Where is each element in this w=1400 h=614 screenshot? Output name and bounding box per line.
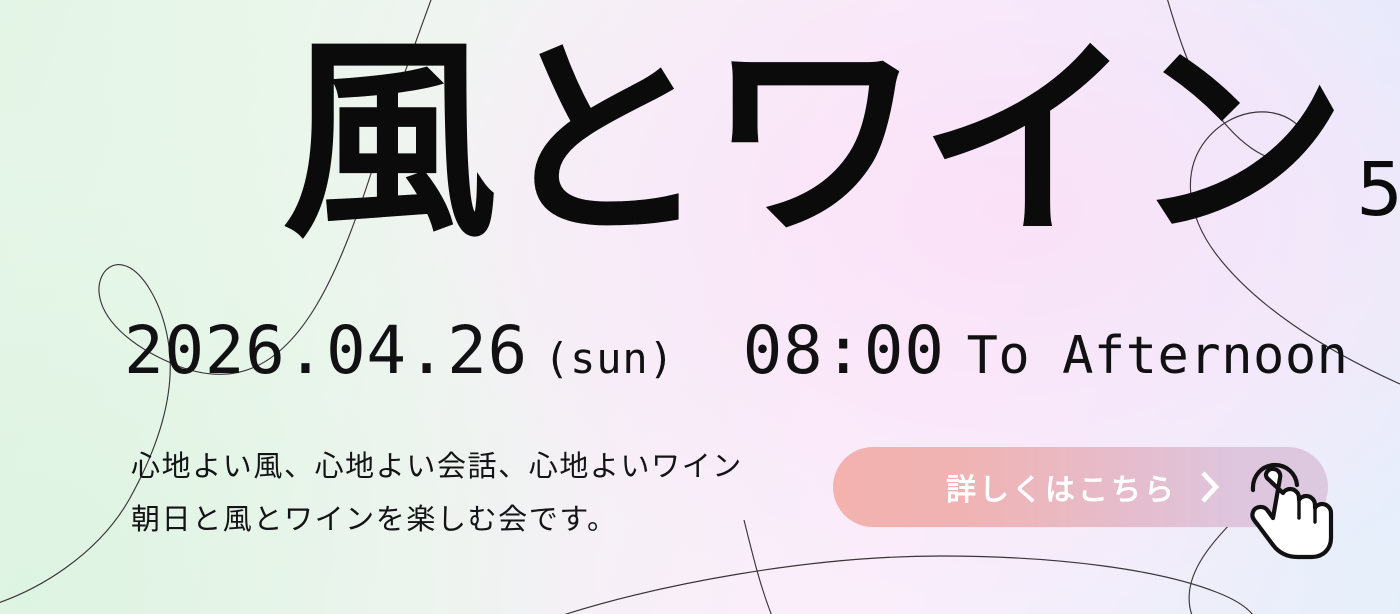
event-datetime: 2026.04.26 (sun) 08:00 To Afternoon [124,318,1349,384]
event-time-suffix: To Afternoon [967,330,1349,382]
details-button-label: 詳しくはこちら [946,465,1177,509]
event-day-of-week: (sun) [544,338,675,380]
title-main-text: 風とワイン [282,34,1344,249]
description-line-2: 朝日と風とワインを楽しむ会です。 [131,493,743,546]
details-button[interactable]: 詳しくはこちら [833,447,1328,527]
chevron-right-icon [1199,470,1221,504]
event-banner: 風とワイン 5 2026.04.26 (sun) 08:00 To Aftern… [0,0,1400,614]
event-start-time: 08:00 [743,318,945,384]
description-line-1: 心地よい風、心地よい会話、心地よいワイン [131,440,743,493]
banner-title: 風とワイン 5 [282,34,1400,249]
event-description: 心地よい風、心地よい会話、心地よいワイン 朝日と風とワインを楽しむ会です。 [131,440,743,546]
title-edition-number: 5 [1356,153,1400,227]
event-date: 2026.04.26 [124,318,528,384]
